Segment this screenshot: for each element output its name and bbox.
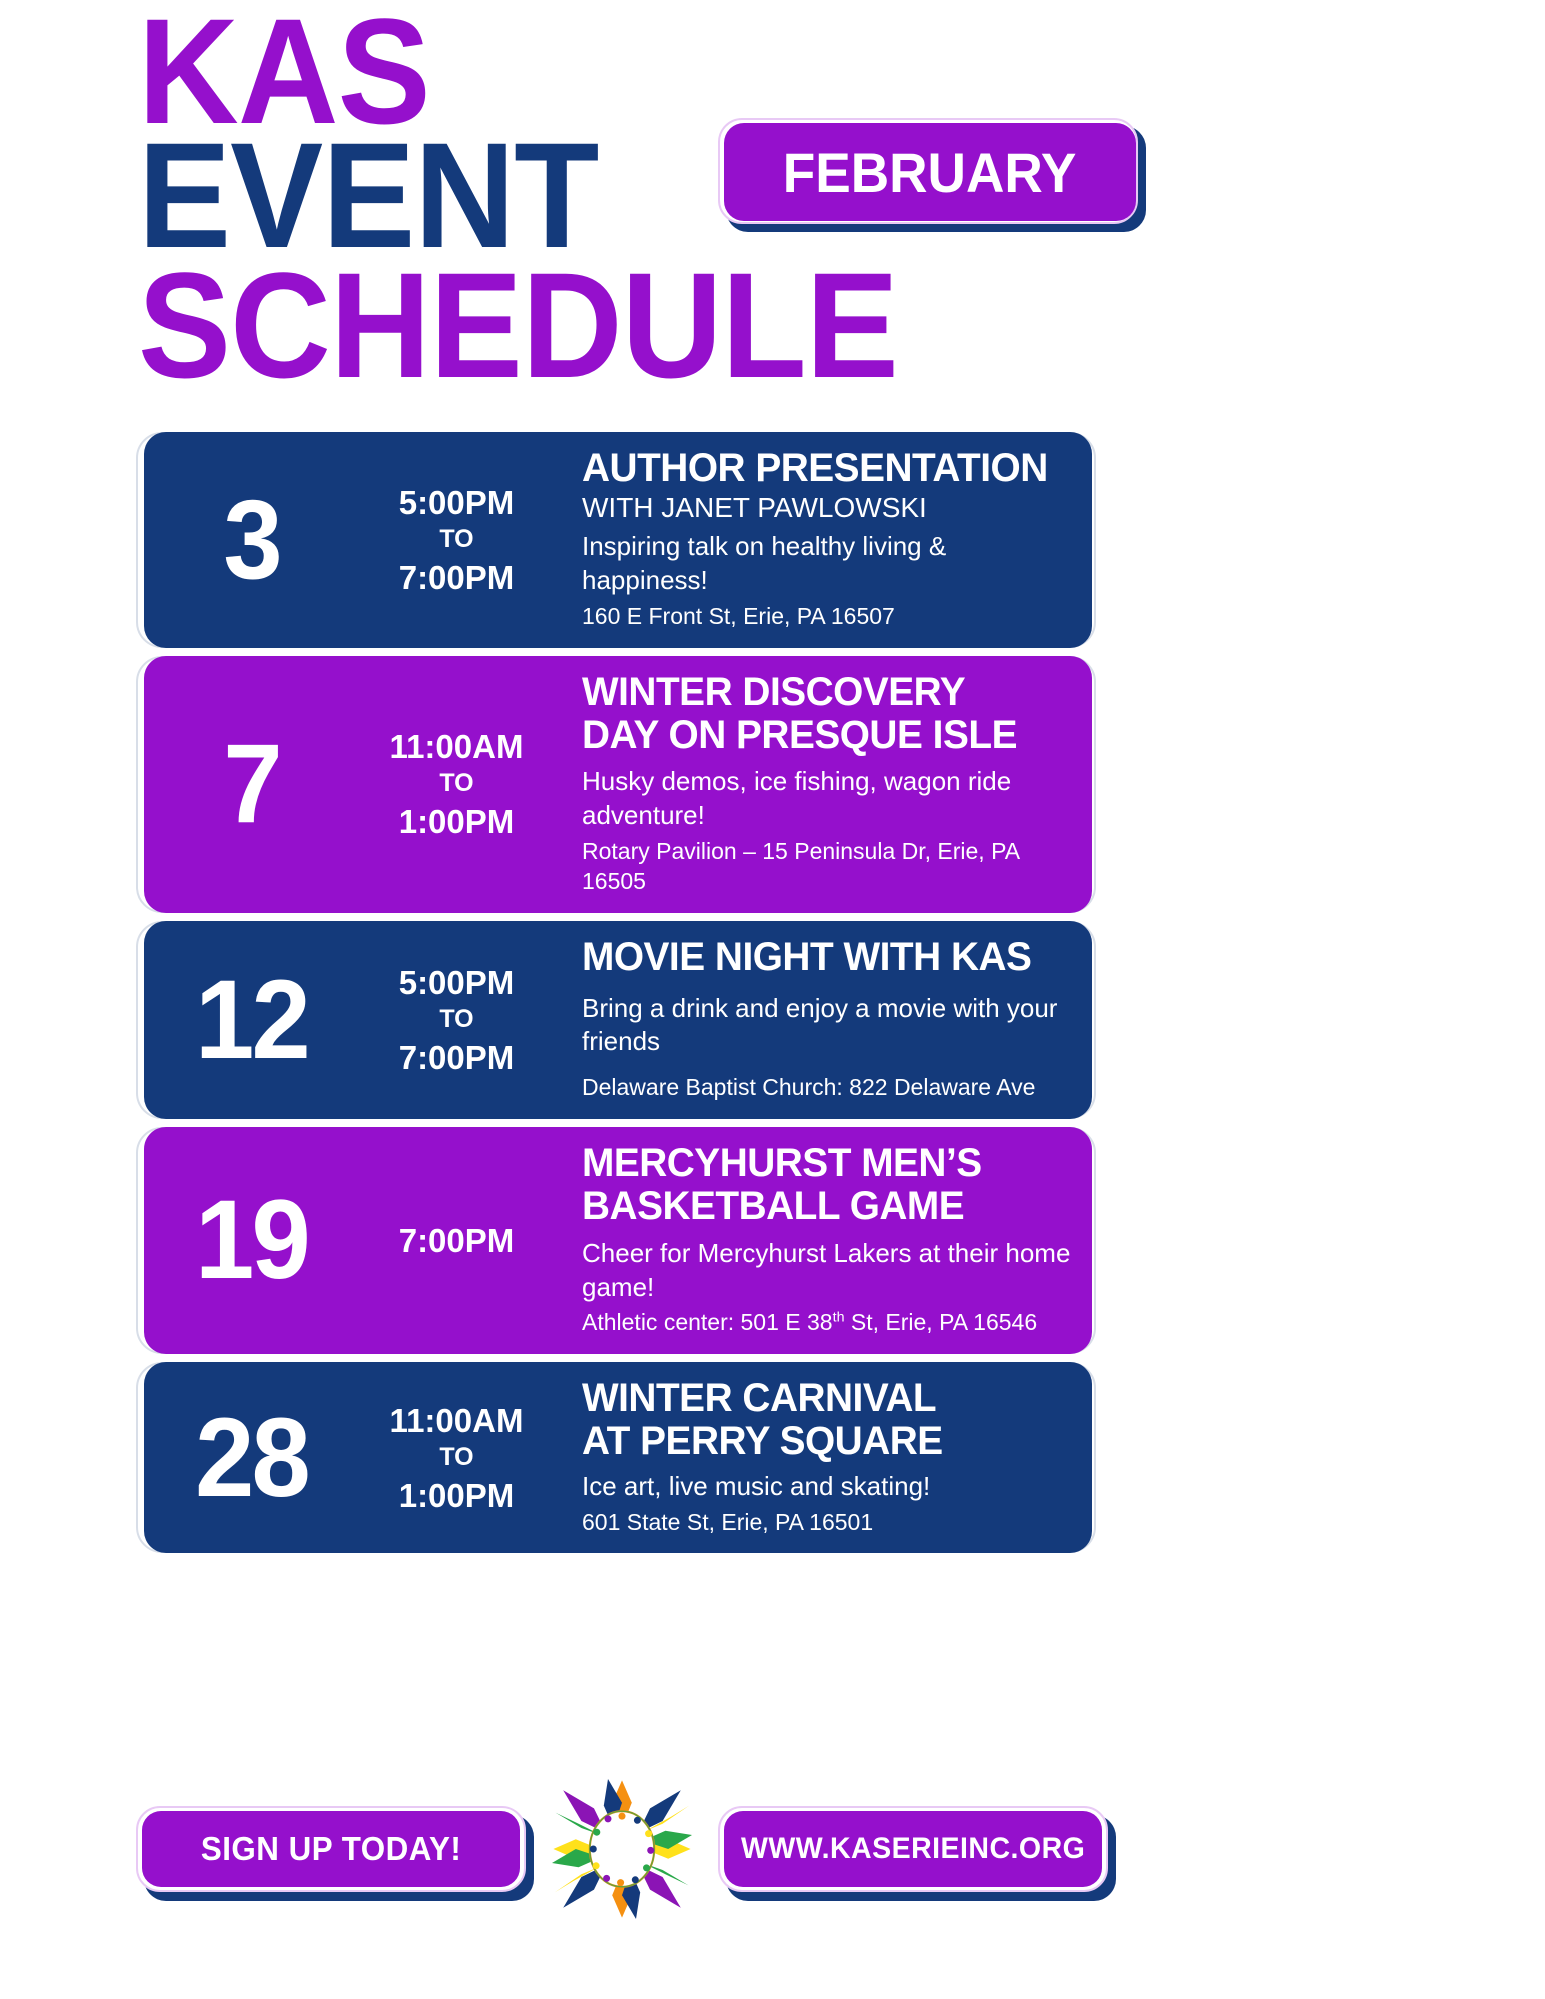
event-address-ordinal: th — [833, 1310, 845, 1326]
poster-header: KAS EVENT SCHEDULE FEBRUARY — [0, 0, 1545, 430]
event-card-28: 28 11:00AM TO 1:00PM WINTER CARNIVAL AT … — [136, 1362, 1106, 1553]
event-address: Rotary Pavilion – 15 Peninsula Dr, Erie,… — [582, 837, 1072, 897]
event-address: 601 State St, Erie, PA 16501 — [582, 1508, 1072, 1538]
event-list: 3 5:00PM TO 7:00PM AUTHOR PRESENTATION W… — [136, 432, 1106, 1561]
sign-up-button-fill[interactable]: SIGN UP TODAY! — [142, 1811, 520, 1887]
event-description: Cheer for Mercyhurst Lakers at their hom… — [582, 1237, 1072, 1305]
event-address: 160 E Front St, Erie, PA 16507 — [582, 602, 1072, 632]
event-description: Ice art, live music and skating! — [582, 1470, 1072, 1504]
event-card-12: 12 5:00PM TO 7:00PM MOVIE NIGHT WITH KAS… — [136, 921, 1106, 1119]
event-card-body: 28 11:00AM TO 1:00PM WINTER CARNIVAL AT … — [144, 1362, 1092, 1553]
event-title-line2: DAY ON PRESQUE ISLE — [582, 715, 1057, 756]
event-card-body: 12 5:00PM TO 7:00PM MOVIE NIGHT WITH KAS… — [144, 921, 1092, 1119]
event-info: WINTER DISCOVERY DAY ON PRESQUE ISLE Hus… — [554, 672, 1092, 897]
event-time-separator: TO — [359, 1003, 554, 1037]
event-card-body: 3 5:00PM TO 7:00PM AUTHOR PRESENTATION W… — [144, 432, 1092, 648]
kas-starburst-logo — [552, 1774, 692, 1924]
title-line-event: EVENT — [138, 132, 598, 258]
event-address: Delaware Baptist Church: 822 Delaware Av… — [582, 1073, 1072, 1103]
event-time-block: 5:00PM TO 7:00PM — [359, 482, 554, 598]
month-badge-fill: FEBRUARY — [724, 123, 1136, 221]
event-address-pre: Athletic center: 501 E 38 — [582, 1309, 833, 1335]
title-line-schedule: SCHEDULE — [138, 262, 898, 388]
sign-up-button[interactable]: SIGN UP TODAY! — [136, 1806, 526, 1892]
event-info: MERCYHURST MEN’S BASKETBALL GAME Cheer f… — [554, 1143, 1092, 1338]
event-description: Inspiring talk on healthy living & happi… — [582, 530, 1072, 598]
website-button-label: WWW.KASERIEINC.ORG — [741, 1832, 1085, 1866]
event-time-separator: TO — [359, 767, 554, 801]
event-title-line2: BASKETBALL GAME — [582, 1186, 1057, 1227]
website-button-fill[interactable]: WWW.KASERIEINC.ORG — [724, 1811, 1102, 1887]
event-card-body: 19 7:00PM MERCYHURST MEN’S BASKETBALL GA… — [144, 1127, 1092, 1354]
event-time-block: 11:00AM TO 1:00PM — [359, 726, 554, 842]
event-card-3: 3 5:00PM TO 7:00PM AUTHOR PRESENTATION W… — [136, 432, 1106, 648]
event-title: AUTHOR PRESENTATION — [582, 448, 1057, 489]
event-title-line1: WINTER DISCOVERY — [582, 672, 1057, 713]
event-day-number: 12 — [149, 967, 353, 1073]
event-time-end: 7:00PM — [359, 1037, 554, 1078]
poster-footer: SIGN UP TODAY! — [0, 1770, 1545, 1940]
event-description: Husky demos, ice fishing, wagon ride adv… — [582, 765, 1072, 833]
event-time-start: 7:00PM — [359, 1220, 554, 1261]
event-title: MOVIE NIGHT WITH KAS — [582, 937, 1057, 978]
event-day-number: 3 — [149, 487, 353, 593]
event-time-block: 11:00AM TO 1:00PM — [359, 1400, 554, 1516]
sign-up-button-label: SIGN UP TODAY! — [201, 1830, 461, 1868]
event-time-separator: TO — [359, 523, 554, 557]
event-time-start: 5:00PM — [359, 482, 554, 523]
event-time-start: 5:00PM — [359, 962, 554, 1003]
event-time-start: 11:00AM — [359, 726, 554, 767]
event-subtitle: WITH JANET PAWLOWSKI — [582, 491, 1072, 525]
event-card-19: 19 7:00PM MERCYHURST MEN’S BASKETBALL GA… — [136, 1127, 1106, 1354]
event-info: MOVIE NIGHT WITH KAS Bring a drink and e… — [554, 937, 1092, 1103]
event-time-separator: TO — [359, 1441, 554, 1475]
event-title-line2: AT PERRY SQUARE — [582, 1421, 1057, 1462]
event-address: Athletic center: 501 E 38th St, Erie, PA… — [582, 1308, 1072, 1338]
event-day-number: 7 — [149, 731, 353, 837]
event-time-end: 1:00PM — [359, 1475, 554, 1516]
event-card-body: 7 11:00AM TO 1:00PM WINTER DISCOVERY DAY… — [144, 656, 1092, 913]
month-badge: FEBRUARY — [718, 118, 1146, 232]
starburst-icon — [552, 1774, 692, 1924]
event-description: Bring a drink and enjoy a movie with you… — [582, 992, 1072, 1060]
event-day-number: 19 — [149, 1187, 353, 1293]
event-address-post: St, Erie, PA 16546 — [845, 1309, 1038, 1335]
website-button[interactable]: WWW.KASERIEINC.ORG — [718, 1806, 1108, 1892]
month-label: FEBRUARY — [783, 140, 1077, 205]
event-time-end: 1:00PM — [359, 801, 554, 842]
event-info: WINTER CARNIVAL AT PERRY SQUARE Ice art,… — [554, 1378, 1092, 1537]
event-info: AUTHOR PRESENTATION WITH JANET PAWLOWSKI… — [554, 448, 1092, 632]
event-card-7: 7 11:00AM TO 1:00PM WINTER DISCOVERY DAY… — [136, 656, 1106, 913]
event-time-end: 7:00PM — [359, 557, 554, 598]
event-time-start: 11:00AM — [359, 1400, 554, 1441]
event-time-block: 5:00PM TO 7:00PM — [359, 962, 554, 1078]
event-title-line1: MERCYHURST MEN’S — [582, 1143, 1057, 1184]
event-day-number: 28 — [149, 1405, 353, 1511]
event-title-line1: WINTER CARNIVAL — [582, 1378, 1057, 1419]
event-time-block: 7:00PM — [359, 1220, 554, 1261]
